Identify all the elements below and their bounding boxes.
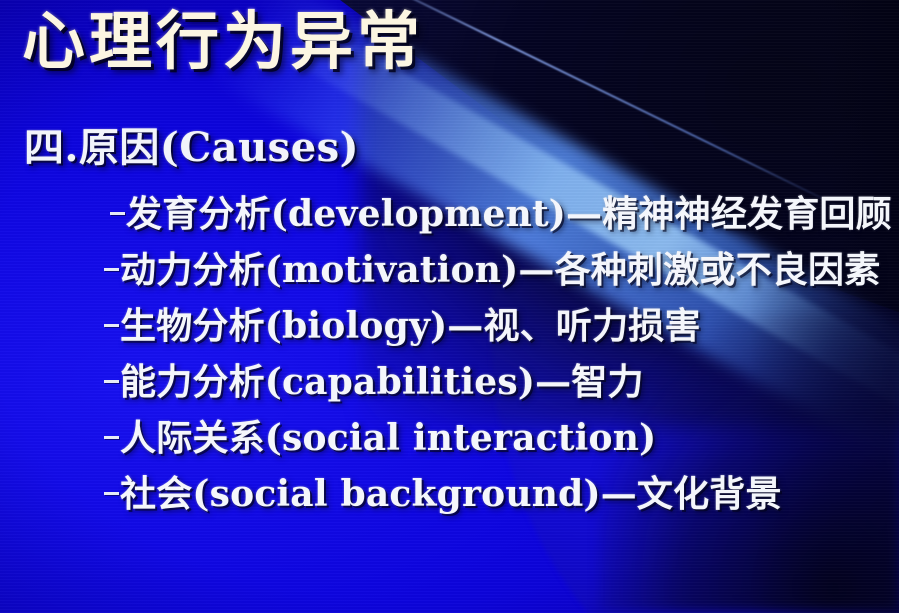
bullet-item: 社会(social background)—文化背景 bbox=[0, 466, 899, 522]
bullet-item-label: 能力分析(capabilities)—智力 bbox=[120, 361, 644, 403]
bullet-item: 发育分析(development)—精神神经发育回顾 bbox=[0, 186, 899, 242]
bullet-item: 动力分析(motivation)—各种刺激或不良因素 bbox=[0, 242, 899, 298]
bullet-item: 生物分析(biology)—视、听力损害 bbox=[0, 298, 899, 354]
section-heading: 四.原因(Causes) bbox=[24, 126, 359, 170]
slide-content: 心理行为异常 四.原因(Causes) 发育分析(development)—精神… bbox=[0, 0, 899, 613]
bullet-item-label: 人际关系(social interaction) bbox=[120, 417, 656, 459]
slide-title: 心理行为异常 bbox=[22, 6, 424, 77]
bullet-dash-icon bbox=[104, 324, 119, 327]
bullet-item-label: 社会(social background)—文化背景 bbox=[120, 473, 782, 515]
bullet-dash-icon bbox=[110, 212, 125, 215]
bullet-dash-icon bbox=[104, 268, 119, 271]
bullet-list: 发育分析(development)—精神神经发育回顾 动力分析(motivati… bbox=[0, 186, 899, 522]
bullet-item-label: 发育分析(development)—精神神经发育回顾 bbox=[126, 193, 892, 235]
bullet-item-label: 动力分析(motivation)—各种刺激或不良因素 bbox=[120, 249, 880, 291]
bullet-dash-icon bbox=[104, 492, 119, 495]
bullet-item-label: 生物分析(biology)—视、听力损害 bbox=[120, 305, 701, 347]
bullet-item: 人际关系(social interaction) bbox=[0, 410, 899, 466]
bullet-dash-icon bbox=[104, 436, 119, 439]
presentation-slide: 心理行为异常 四.原因(Causes) 发育分析(development)—精神… bbox=[0, 0, 899, 613]
bullet-dash-icon bbox=[104, 380, 119, 383]
bullet-item: 能力分析(capabilities)—智力 bbox=[0, 354, 899, 410]
